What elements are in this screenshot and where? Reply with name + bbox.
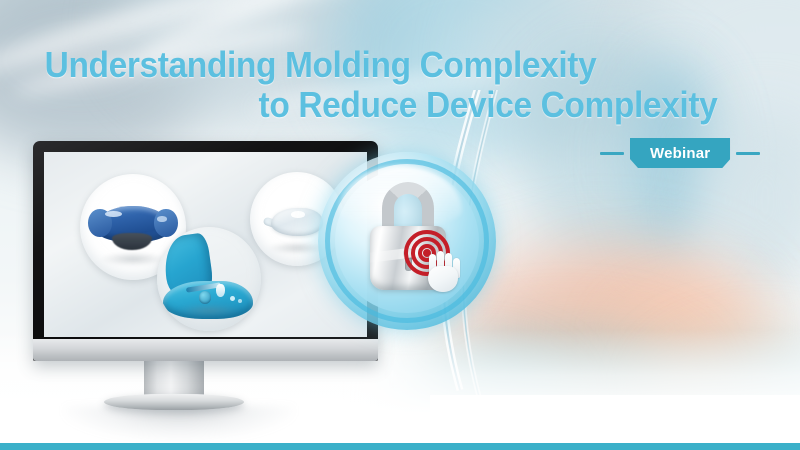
badge-rule-right	[736, 152, 760, 155]
monitor-chin	[33, 339, 378, 361]
product-circle-cyan-device	[157, 227, 261, 331]
title-line-2: to Reduce Device Complexity	[0, 86, 716, 124]
background-white-band	[430, 395, 800, 450]
touch-tap-icon	[404, 230, 466, 292]
bottom-accent-stripe	[0, 443, 800, 450]
security-lock-emblem	[318, 152, 496, 330]
badge-rule-left	[600, 152, 624, 155]
webinar-badge[interactable]: Webinar	[630, 138, 730, 168]
monitor-floor-reflection	[64, 406, 294, 440]
banner-title: Understanding Molding Complexity to Redu…	[0, 46, 770, 124]
webinar-banner: Understanding Molding Complexity to Redu…	[0, 0, 800, 450]
webinar-badge-row: Webinar	[600, 138, 785, 168]
pointing-hand-icon	[424, 250, 464, 292]
monitor-stand-base	[104, 394, 244, 410]
title-line-1: Understanding Molding Complexity	[0, 46, 716, 84]
